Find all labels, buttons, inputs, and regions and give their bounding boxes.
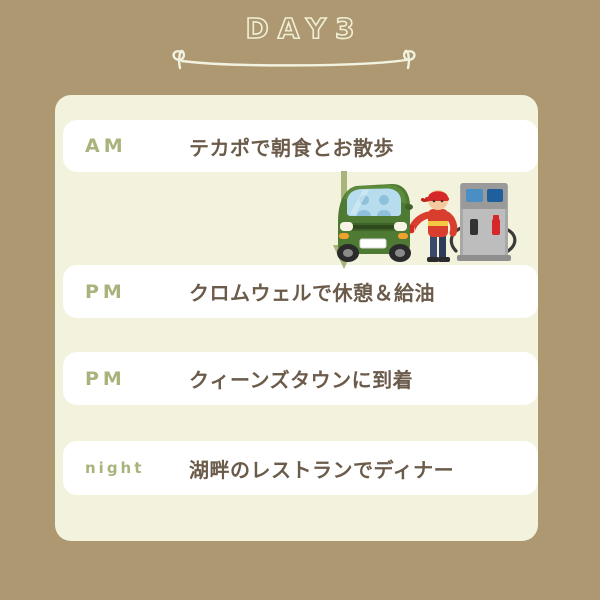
time-label: PM bbox=[85, 368, 189, 390]
list-item[interactable]: PM クィーンズタウンに到着 bbox=[63, 352, 538, 405]
page-title: DAY3 bbox=[0, 14, 600, 45]
list-item[interactable]: PM クロムウェルで休憩＆給油 bbox=[63, 265, 538, 318]
list-item[interactable]: AM テカポで朝食とお散歩 bbox=[63, 120, 538, 172]
activity-text: テカポで朝食とお散歩 bbox=[189, 132, 394, 161]
poster-header: DAY3 bbox=[0, 14, 600, 45]
time-label: PM bbox=[85, 281, 189, 303]
list-item[interactable]: night 湖畔のレストランでディナー bbox=[63, 441, 538, 495]
activity-text: 湖畔のレストランでディナー bbox=[189, 454, 454, 483]
time-label: AM bbox=[85, 135, 189, 157]
activity-text: クロムウェルで休憩＆給油 bbox=[189, 277, 435, 306]
itinerary-row-list: AM テカポで朝食とお散歩 PM クロムウェルで休憩＆給油 PM クィーンズタウ… bbox=[55, 95, 538, 541]
poster-canvas: DAY3 AM テカポで朝食とお散歩 PM クロムウェルで休憩＆給油 PM クィ… bbox=[0, 0, 600, 600]
car-at-gas-station-illustration-icon bbox=[330, 169, 530, 269]
activity-text: クィーンズタウンに到着 bbox=[189, 364, 413, 393]
itinerary-card: AM テカポで朝食とお散歩 PM クロムウェルで休憩＆給油 PM クィーンズタウ… bbox=[55, 95, 538, 541]
time-label: night bbox=[85, 459, 189, 477]
curly-line-divider-icon bbox=[168, 44, 420, 70]
